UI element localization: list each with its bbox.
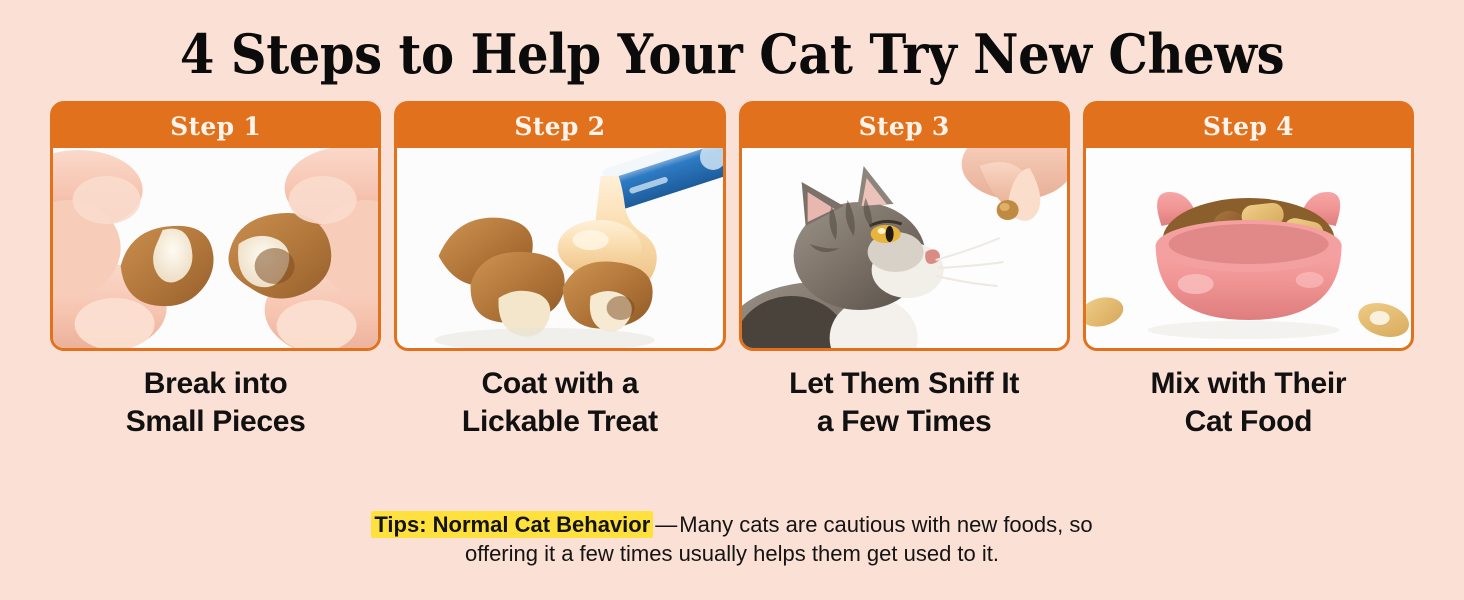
step-1-header: Step 1: [53, 104, 378, 148]
step-card-3: Step 3: [739, 101, 1070, 442]
steps-row: Step 1: [0, 81, 1464, 442]
step-3-header: Step 3: [742, 104, 1067, 148]
step-1-caption-line1: Break into: [144, 367, 288, 400]
step-2-caption: Coat with a Lickable Treat: [462, 365, 658, 442]
step-card-1: Step 1: [50, 101, 381, 442]
step-4-caption-line1: Mix with Their: [1150, 367, 1346, 400]
infographic-root: { "title": "4 Steps to Help Your Cat Try…: [0, 0, 1464, 600]
step-1-caption-line2: Small Pieces: [126, 403, 306, 441]
step-3-caption: Let Them Sniff It a Few Times: [789, 365, 1019, 442]
step-2-photo: [397, 148, 722, 348]
step-1-caption: Break into Small Pieces: [126, 365, 306, 442]
tips-highlight-label: Tips: Normal Cat Behavior: [371, 511, 653, 538]
page-title: 4 Steps to Help Your Cat Try New Chews: [59, 0, 1406, 81]
step-card-4: Step 4: [1083, 101, 1414, 442]
cat-sniffing-treat-illustration: [742, 148, 1067, 348]
step-3-caption-line1: Let Them Sniff It: [789, 367, 1019, 400]
lickable-treat-pour-illustration: [397, 148, 722, 348]
step-card-3-frame: Step 3: [739, 101, 1070, 351]
step-4-caption-line2: Cat Food: [1150, 403, 1346, 441]
step-1-photo: [53, 148, 378, 348]
step-card-1-frame: Step 1: [50, 101, 381, 351]
step-4-photo: [1086, 148, 1411, 348]
step-card-2-frame: Step 2: [394, 101, 725, 351]
step-3-photo: [742, 148, 1067, 348]
step-4-header: Step 4: [1086, 104, 1411, 148]
step-2-caption-line1: Coat with a: [482, 367, 639, 400]
step-card-4-frame: Step 4: [1083, 101, 1414, 351]
step-2-header: Step 2: [397, 104, 722, 148]
tips-dash: —: [653, 512, 679, 537]
step-2-caption-line2: Lickable Treat: [462, 403, 658, 441]
step-card-2: Step 2: [394, 101, 725, 442]
cat-bowl-with-food-illustration: [1086, 148, 1411, 348]
step-4-caption: Mix with Their Cat Food: [1150, 365, 1346, 442]
tips-note: Tips: Normal Cat Behavior—Many cats are …: [0, 510, 1464, 568]
tips-line2: offering it a few times usually helps th…: [465, 541, 999, 566]
step-3-caption-line2: a Few Times: [789, 403, 1019, 441]
tips-line1: Many cats are cautious with new foods, s…: [679, 512, 1092, 537]
hands-breaking-chew-illustration: [53, 148, 378, 348]
